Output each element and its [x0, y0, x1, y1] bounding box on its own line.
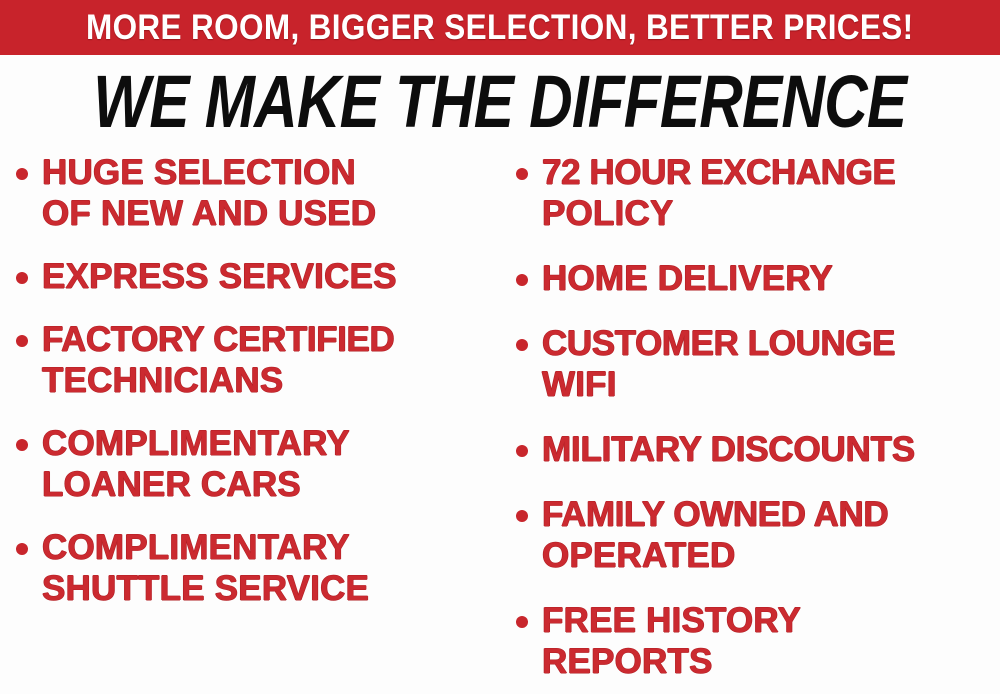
bullet-line-2: SHUTTLE SERVICE [42, 568, 506, 609]
benefits-columns: HUGE SELECTION OF NEW AND USED EXPRESS S… [0, 152, 1000, 694]
bullet-line-1: CUSTOMER LOUNGE [542, 323, 1000, 364]
benefits-column-right: 72 HOUR EXCHANGE POLICY HOME DELIVERY CU… [516, 152, 1000, 694]
list-item: COMPLIMENTARY SHUTTLE SERVICE [16, 527, 506, 609]
list-item: FAMILY OWNED AND OPERATED [516, 494, 1000, 576]
bullet-line-2: OF NEW AND USED [42, 193, 506, 234]
page-title: WE MAKE THE DIFFERENCE [93, 64, 906, 140]
bullet-dot-icon [16, 168, 28, 180]
banner-headline-text: MORE ROOM, BIGGER SELECTION, BETTER PRIC… [86, 10, 914, 46]
benefits-column-left: HUGE SELECTION OF NEW AND USED EXPRESS S… [16, 152, 506, 694]
headline-container: WE MAKE THE DIFFERENCE [0, 63, 1000, 141]
bullet-line-1: 72 HOUR EXCHANGE [542, 152, 1000, 193]
bullet-dot-icon [16, 439, 28, 451]
bullet-dot-icon [516, 445, 528, 457]
list-item: HOME DELIVERY [516, 258, 1000, 299]
bullet-line-1: COMPLIMENTARY [42, 423, 506, 464]
list-item: FREE HISTORY REPORTS [516, 600, 1000, 682]
bullet-line-2: WIFI [542, 364, 1000, 405]
list-item: COMPLIMENTARY LOANER CARS [16, 423, 506, 505]
bullet-line-1: MILITARY DISCOUNTS [542, 429, 1000, 470]
list-item: 72 HOUR EXCHANGE POLICY [516, 152, 1000, 234]
bullet-dot-icon [516, 616, 528, 628]
bullet-line-2: OPERATED [542, 535, 1000, 576]
bullet-line-1: HOME DELIVERY [542, 258, 1000, 299]
bullet-dot-icon [16, 335, 28, 347]
list-item: MILITARY DISCOUNTS [516, 429, 1000, 470]
list-item: HUGE SELECTION OF NEW AND USED [16, 152, 506, 234]
promotional-poster: MORE ROOM, BIGGER SELECTION, BETTER PRIC… [0, 0, 1000, 694]
bullet-line-1: FACTORY CERTIFIED [42, 319, 506, 360]
list-item: CUSTOMER LOUNGE WIFI [516, 323, 1000, 405]
bullet-line-2: POLICY [542, 193, 1000, 234]
bullet-dot-icon [516, 339, 528, 351]
list-item: FACTORY CERTIFIED TECHNICIANS [16, 319, 506, 401]
bullet-line-1: FAMILY OWNED AND [542, 494, 1000, 535]
bullet-dot-icon [16, 543, 28, 555]
bullet-dot-icon [16, 272, 28, 284]
bullet-dot-icon [516, 510, 528, 522]
list-item: EXPRESS SERVICES [16, 256, 506, 297]
bullet-line-1: COMPLIMENTARY [42, 527, 506, 568]
bullet-line-1: FREE HISTORY [542, 600, 1000, 641]
bullet-dot-icon [516, 168, 528, 180]
bullet-line-1: HUGE SELECTION [42, 152, 506, 193]
bullet-line-2: REPORTS [542, 641, 1000, 682]
top-banner: MORE ROOM, BIGGER SELECTION, BETTER PRIC… [0, 0, 1000, 55]
bullet-line-2: LOANER CARS [42, 464, 506, 505]
bullet-dot-icon [516, 274, 528, 286]
bullet-line-1: EXPRESS SERVICES [42, 256, 506, 297]
bullet-line-2: TECHNICIANS [42, 360, 506, 401]
